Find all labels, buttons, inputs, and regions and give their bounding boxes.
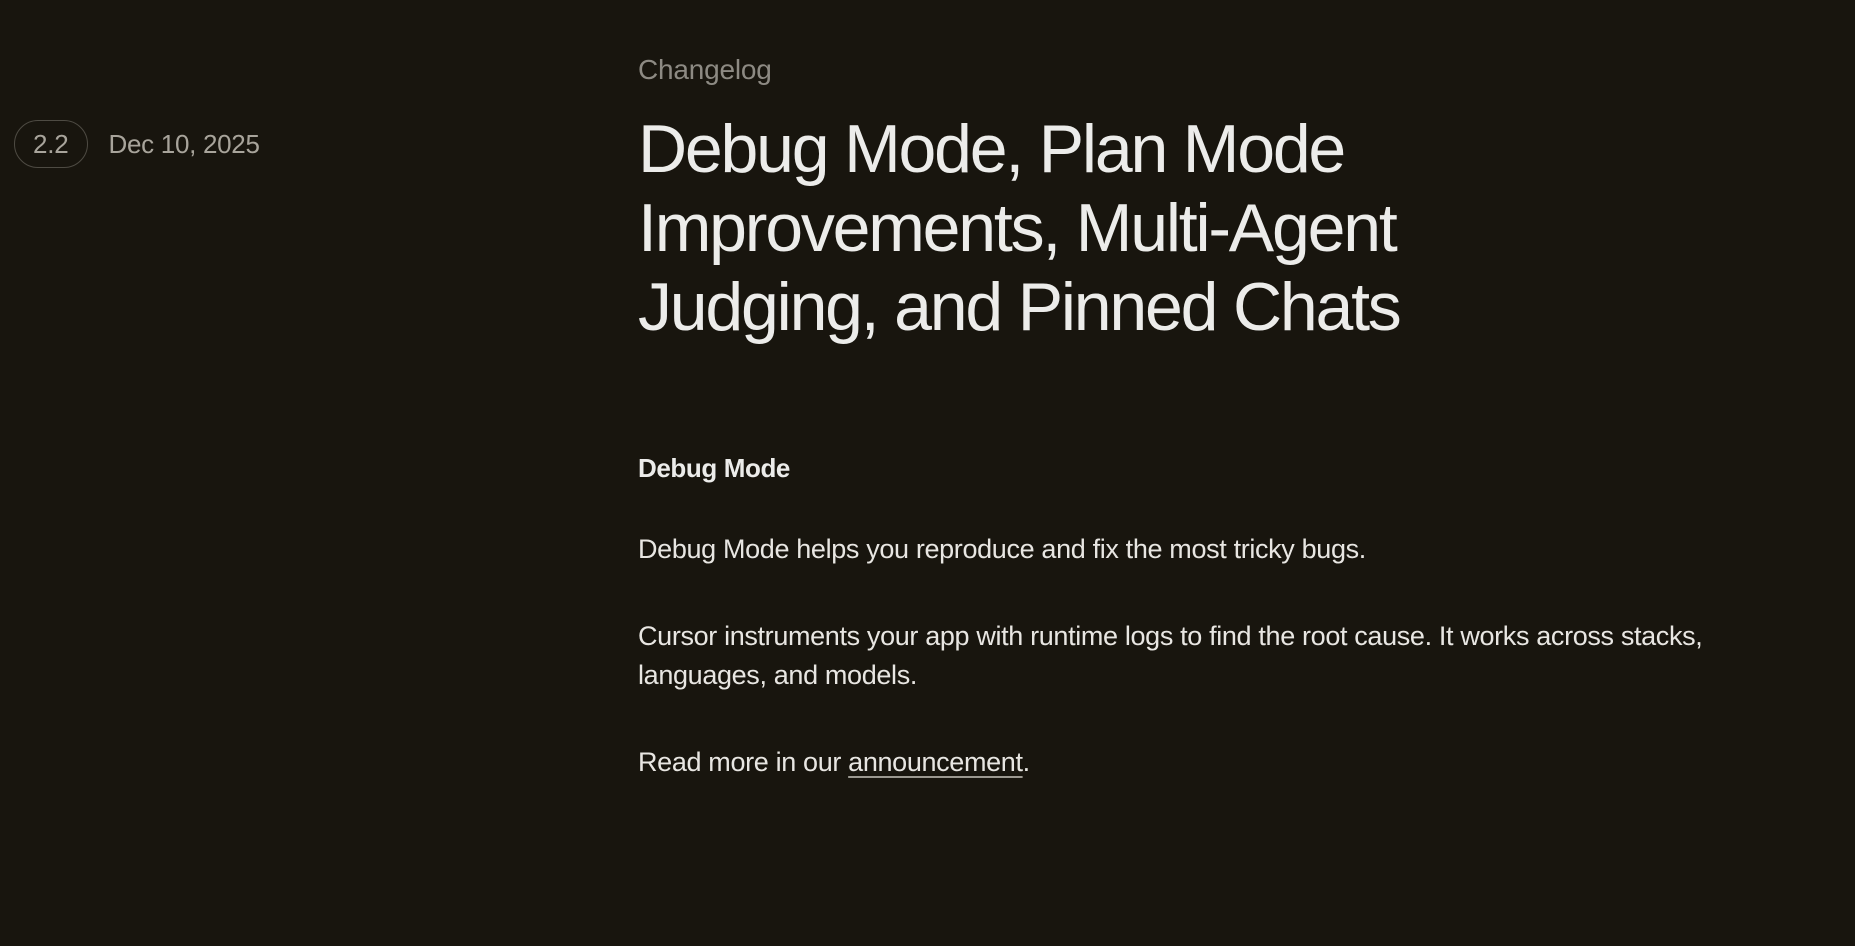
- release-meta: 2.2 Dec 10, 2025: [0, 120, 600, 168]
- changelog-page: 2.2 Dec 10, 2025 Changelog Debug Mode, P…: [0, 0, 1855, 946]
- section-paragraph: Debug Mode helps you reproduce and fix t…: [638, 530, 1813, 569]
- page-title: Debug Mode, Plan Mode Improvements, Mult…: [638, 110, 1638, 347]
- breadcrumb-changelog[interactable]: Changelog: [638, 52, 1818, 88]
- section-heading: Debug Mode: [638, 452, 1818, 486]
- section-debug-mode: Debug Mode Debug Mode helps you reproduc…: [638, 452, 1818, 782]
- section-closing-line: Read more in our announcement.: [638, 743, 1813, 782]
- announcement-link[interactable]: announcement: [848, 747, 1022, 777]
- changelog-content: Changelog Debug Mode, Plan Mode Improvem…: [638, 52, 1818, 782]
- section-paragraph: Cursor instruments your app with runtime…: [638, 617, 1813, 695]
- closing-text-after: .: [1023, 747, 1030, 777]
- closing-text-before: Read more in our: [638, 747, 848, 777]
- release-date: Dec 10, 2025: [109, 131, 260, 157]
- version-badge: 2.2: [14, 120, 88, 168]
